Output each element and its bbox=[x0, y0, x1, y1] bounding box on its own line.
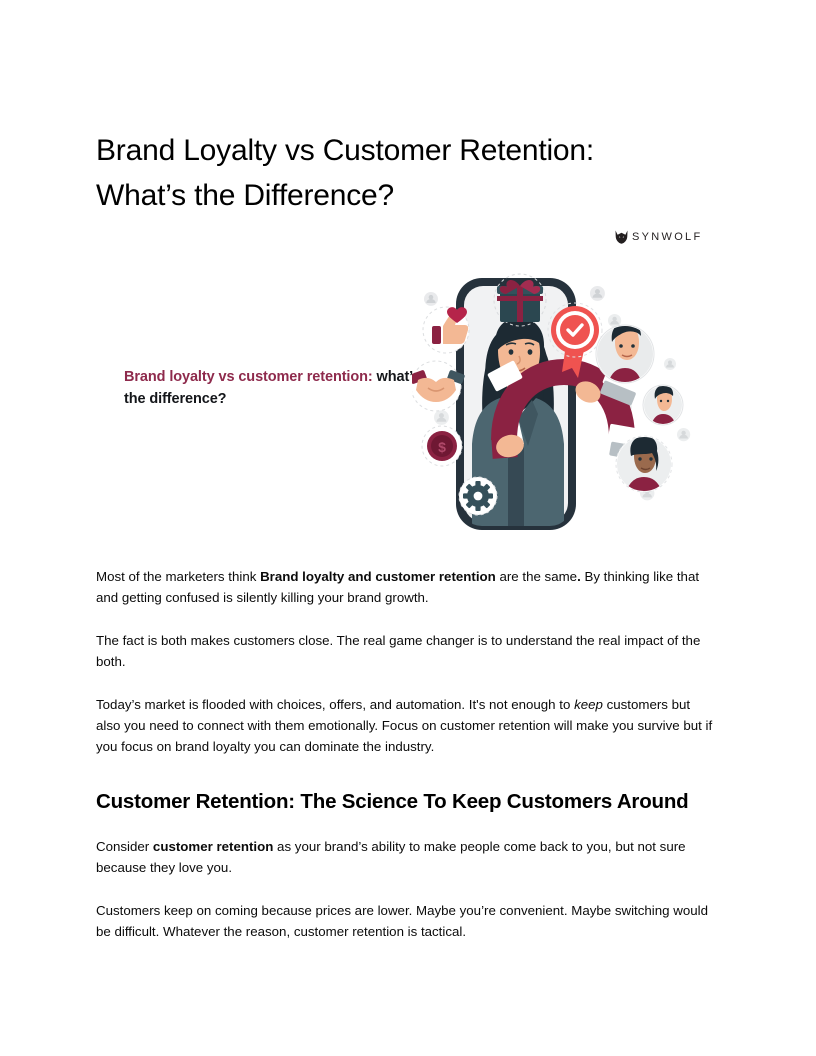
gear-icon bbox=[459, 477, 497, 515]
brand-logo: SYNWOLF bbox=[615, 230, 703, 244]
p1-part-2: are the same bbox=[496, 569, 577, 584]
article-body: Most of the marketers think Brand loyalt… bbox=[96, 566, 714, 942]
brand-wordmark: SYNWOLF bbox=[632, 232, 703, 243]
customer-retention-magnet-illustration: $ bbox=[412, 268, 702, 540]
hero-figure: Brand loyalty vs customer retention: wha… bbox=[96, 268, 720, 540]
hero-caption-accent: Brand loyalty vs customer retention: bbox=[124, 369, 373, 385]
paragraph-2: The fact is both makes customers close. … bbox=[96, 630, 714, 672]
paragraph-3: Today’s market is flooded with choices, … bbox=[96, 694, 714, 757]
page-title-line-1: Brand Loyalty vs Customer Retention: bbox=[96, 134, 594, 167]
p3-italic-1: keep bbox=[574, 697, 603, 712]
p3-part-1: Today’s market is flooded with choices, … bbox=[96, 697, 574, 712]
section-heading-customer-retention: Customer Retention: The Science To Keep … bbox=[96, 787, 714, 816]
paragraph-4: Consider customer retention as your bran… bbox=[96, 836, 714, 878]
p4-bold-1: customer retention bbox=[153, 839, 273, 854]
thumbs-up-heart-icon bbox=[423, 307, 469, 353]
dollar-coin-icon: $ bbox=[422, 426, 462, 466]
p1-bold-1: Brand loyalty and customer retention bbox=[260, 569, 496, 584]
paragraph-1: Most of the marketers think Brand loyalt… bbox=[96, 566, 714, 608]
paragraph-5: Customers keep on coming because prices … bbox=[96, 900, 714, 942]
svg-text:$: $ bbox=[438, 439, 446, 455]
customer-avatar-2 bbox=[643, 385, 683, 436]
page-title: Brand Loyalty vs Customer Retention: Wha… bbox=[96, 128, 736, 218]
p4-part-1: Consider bbox=[96, 839, 153, 854]
hero-caption: Brand loyalty vs customer retention: wha… bbox=[124, 366, 424, 410]
p1-part-1: Most of the marketers think bbox=[96, 569, 260, 584]
wolf-head-icon bbox=[615, 230, 628, 244]
document-page: Brand Loyalty vs Customer Retention: Wha… bbox=[0, 0, 816, 1056]
page-title-line-2: What’s the Difference? bbox=[96, 179, 394, 212]
